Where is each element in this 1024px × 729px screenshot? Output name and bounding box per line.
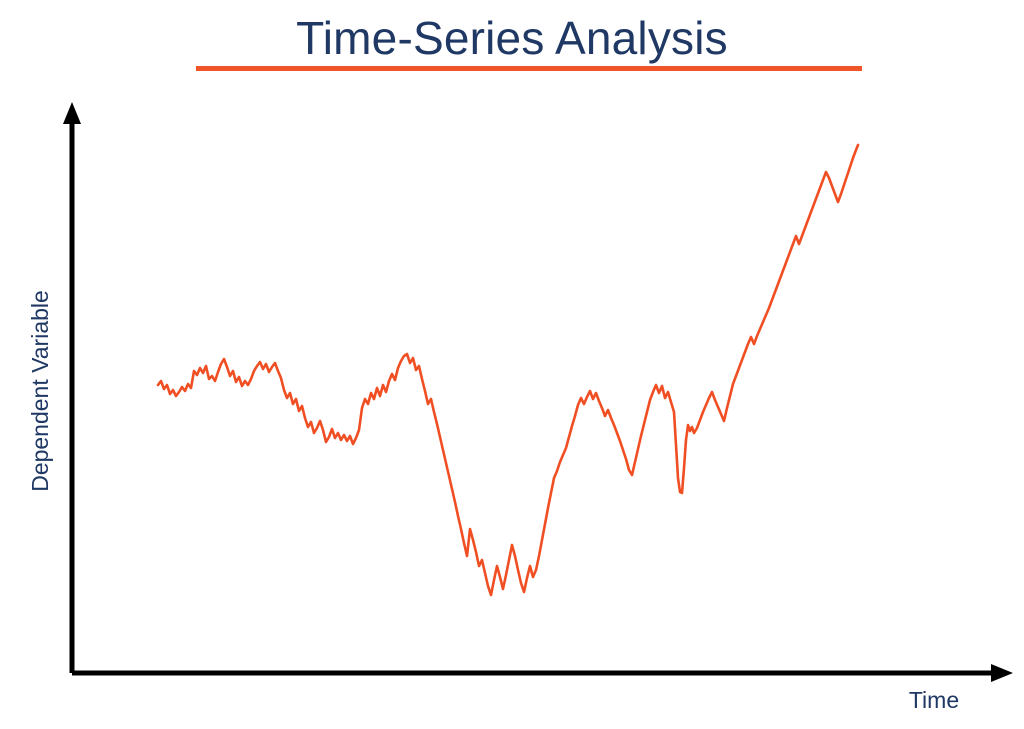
x-axis-label: Time <box>909 687 959 713</box>
y-axis-label: Dependent Variable <box>27 290 53 492</box>
page-title: Time-Series Analysis <box>296 12 728 64</box>
time-series-figure: Time-Series Analysis Dependent Variable … <box>0 0 1024 729</box>
figure-background <box>0 0 1024 729</box>
